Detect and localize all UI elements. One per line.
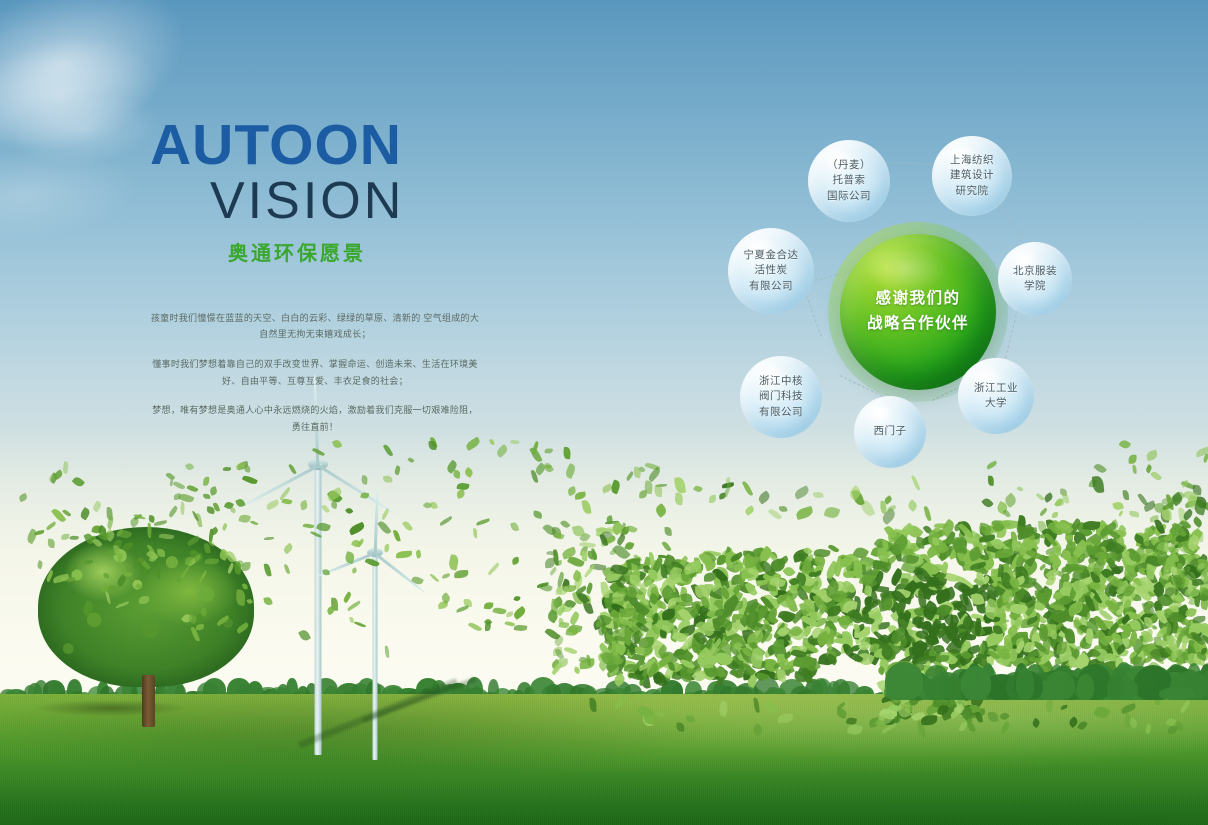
flying-leaf — [193, 563, 199, 570]
flying-leaf — [1129, 455, 1137, 464]
flying-leaf — [511, 556, 519, 565]
partner-bubble-nxjinheda[interactable]: 宁夏金合达活性炭有限公司 — [728, 228, 814, 314]
partner-label-line: （丹麦） — [827, 158, 871, 173]
partner-bubble-zjzhonghe[interactable]: 浙江中核阀门科技有限公司 — [740, 356, 822, 438]
cloud-fringe-leaf — [585, 583, 593, 595]
body-paragraph: 懂事时我们梦想着靠自己的双手改变世界、掌握命运、创造未来、生活在环境美好、自由平… — [150, 356, 480, 389]
cloud-wisp-icon — [0, 140, 143, 250]
flying-leaf — [116, 528, 132, 541]
brand-body-copy: 孩童时我们憧憬在蓝蓝的天空、白白的云彩、绿绿的草原、清新的 空气组成的大自然里无… — [150, 310, 480, 436]
cloud-fringe-leaf — [589, 698, 596, 712]
flying-leaf — [209, 486, 218, 496]
flying-leaf — [411, 575, 424, 586]
shrub-blob — [1107, 675, 1124, 700]
brand-chinese-title: 奥通环保愿景 — [228, 237, 480, 266]
flying-leaf — [84, 560, 93, 564]
flying-leaf — [210, 527, 219, 536]
flying-leaf — [321, 504, 330, 515]
partner-bubble-siemens[interactable]: 西门子 — [854, 396, 926, 468]
flying-leaf — [345, 507, 354, 516]
flying-leaf — [316, 522, 331, 534]
cloud-fringe-leaf — [719, 701, 730, 717]
flying-leaf — [633, 467, 641, 478]
flying-leaf — [414, 549, 421, 558]
cloud-leaf — [877, 548, 888, 562]
flying-leaf — [72, 475, 86, 488]
flying-leaf — [122, 542, 133, 551]
flying-leaf — [70, 535, 79, 540]
flying-leaf — [18, 492, 28, 501]
flying-leaf — [158, 532, 174, 540]
partner-label-line: 研究院 — [950, 184, 994, 199]
cloud-leaf — [744, 581, 758, 597]
flying-leaf — [609, 479, 621, 494]
flying-leaf — [105, 592, 111, 605]
cloud-fringe-leaf — [1061, 704, 1068, 710]
partner-label-line: 学院 — [1013, 279, 1057, 294]
flying-leaf — [25, 527, 39, 544]
flying-leaf — [476, 518, 490, 525]
flying-leaf — [214, 502, 221, 512]
flying-leaf — [238, 513, 251, 523]
flying-leaf — [377, 520, 391, 536]
flying-leaf — [139, 596, 149, 605]
flying-leaf — [236, 589, 246, 605]
cloud-fringe-leaf — [686, 715, 695, 723]
flying-leaf — [249, 520, 258, 527]
center-label-line1: 感谢我们的 — [867, 287, 969, 312]
flying-leaf — [495, 444, 509, 458]
cloud-wisp-icon — [0, 20, 169, 169]
shrub-blob — [1159, 687, 1195, 700]
flying-leaf — [46, 521, 57, 530]
flying-leaf — [155, 564, 161, 579]
flying-leaf — [468, 620, 483, 632]
flying-leaf — [288, 463, 296, 474]
cloud-fringe-leaf — [586, 654, 591, 666]
shrub-blob — [923, 665, 949, 700]
cloud-wisp-icon — [6, 85, 164, 175]
flying-leaf — [303, 523, 315, 529]
partner-label-line: 阀门科技 — [759, 389, 803, 404]
cloud-fringe-leaf — [1178, 699, 1191, 713]
flying-leaf — [349, 617, 354, 623]
flying-leaf — [342, 591, 352, 603]
cloud-fringe-leaf — [581, 551, 588, 561]
partner-bubble-shtextile[interactable]: 上海纺织建筑设计研究院 — [932, 136, 1012, 216]
flying-leaf — [354, 620, 366, 628]
cloud-fringe-leaf — [1192, 516, 1204, 528]
flying-leaf — [489, 439, 495, 446]
flying-leaf — [246, 598, 253, 605]
flying-leaf — [196, 624, 204, 630]
flying-leaf — [625, 471, 635, 481]
flying-leaf — [348, 522, 366, 535]
cloud-fringe-leaf — [754, 697, 760, 713]
flying-leaf — [533, 510, 543, 519]
flying-leaf — [456, 489, 466, 499]
cloud-leaf — [1085, 597, 1092, 606]
flying-leaf — [203, 493, 210, 498]
flying-leaf — [103, 573, 109, 579]
cloud-fringe-leaf — [906, 499, 919, 512]
flying-leaf — [351, 568, 358, 575]
flying-leaf — [380, 508, 390, 521]
flying-leaf — [1145, 449, 1159, 461]
partner-label-line: 大学 — [974, 396, 1018, 411]
flying-leaf — [510, 439, 520, 445]
flying-leaf — [36, 560, 44, 569]
flying-leaf — [574, 491, 586, 500]
cloud-fringe-leaf — [824, 505, 841, 520]
partner-label-line: 浙江工业 — [974, 381, 1018, 396]
cloud-leaf — [932, 538, 939, 546]
flying-leaf — [384, 544, 390, 553]
flying-leaf — [564, 463, 577, 479]
flying-leaf — [61, 534, 70, 540]
partner-label-line: 上海纺织 — [950, 153, 994, 168]
cloud-leaf — [1112, 634, 1121, 643]
flying-leaf — [1151, 471, 1163, 483]
flying-leaf — [184, 557, 192, 565]
flying-leaf — [487, 563, 500, 576]
flying-leaf — [407, 456, 414, 463]
flying-leaf — [146, 523, 151, 538]
flying-leaf — [92, 501, 103, 513]
flying-leaf — [68, 563, 79, 573]
cloud-fringe-leaf — [1044, 699, 1054, 713]
flying-leaf — [264, 537, 274, 540]
flying-leaf — [148, 515, 155, 523]
partner-label-line: 建筑设计 — [950, 168, 994, 183]
cloud-fringe-leaf — [616, 533, 627, 545]
shrub-row — [880, 660, 1208, 700]
poster-canvas: AUTOON VISION 奥通环保愿景 孩童时我们憧憬在蓝蓝的天空、白白的云彩… — [0, 0, 1208, 825]
flying-leaf — [310, 530, 322, 539]
flying-leaf — [173, 480, 186, 491]
flying-leaf — [282, 542, 294, 554]
cloud-fringe-leaf — [1003, 509, 1011, 518]
flying-leaf — [48, 539, 55, 549]
flying-leaf — [364, 556, 380, 568]
flying-leaf — [242, 584, 248, 591]
partner-label-line: 西门子 — [874, 424, 907, 439]
flying-leaf — [1132, 465, 1137, 475]
flying-leaf — [204, 557, 218, 565]
shrub-blob — [961, 666, 992, 700]
flying-leaf — [229, 506, 237, 513]
flying-leaf — [136, 583, 144, 590]
cloud-fringe-leaf — [795, 506, 814, 520]
flying-leaf — [81, 600, 95, 617]
cloud-fringe-leaf — [676, 722, 685, 731]
flying-leaf — [241, 474, 257, 486]
shrub-blob — [885, 662, 923, 700]
center-gloss-highlight — [865, 245, 946, 292]
partner-bubble-bift[interactable]: 北京服装学院 — [998, 242, 1072, 316]
flying-leaf — [463, 467, 474, 478]
cloud-fringe-leaf — [654, 503, 668, 518]
flying-leaf — [166, 472, 176, 481]
cloud-fringe-leaf — [626, 524, 638, 534]
flying-leaf — [215, 615, 230, 627]
body-paragraph: 孩童时我们憧憬在蓝蓝的天空、白白的云彩、绿绿的草原、清新的 空气组成的大自然里无… — [150, 310, 480, 343]
flying-leaf — [1118, 438, 1131, 451]
partner-label-line: 托普索 — [827, 173, 871, 188]
flying-leaf — [430, 572, 440, 582]
flying-leaf — [331, 502, 339, 510]
flying-leaf — [186, 483, 198, 492]
cloud-leaf — [853, 561, 863, 579]
flying-leaf — [180, 502, 186, 515]
cloud-fringe-leaf — [1163, 569, 1171, 579]
flying-leaf — [80, 507, 92, 520]
flying-leaf — [52, 573, 69, 583]
flying-leaf — [512, 606, 527, 620]
flying-leaf — [202, 477, 208, 486]
flying-leaf — [157, 549, 165, 558]
cloud-fringe-leaf — [1112, 500, 1124, 511]
partner-bubble-topsoe[interactable]: （丹麦）托普索国际公司 — [808, 140, 890, 222]
flying-leaf — [323, 569, 330, 576]
cloud-leaf — [883, 563, 891, 572]
flying-leaf — [265, 499, 280, 510]
flying-leaf — [198, 570, 208, 583]
partner-bubble-diagram: 感谢我们的 战略合作伙伴 （丹麦）托普索国际公司 上海纺织建筑设计研究院 北京服… — [700, 110, 1100, 480]
flying-leaf — [693, 484, 703, 493]
flying-leaf — [506, 611, 514, 617]
partner-label-line: 北京服装 — [1013, 264, 1057, 279]
flying-leaf — [439, 516, 453, 526]
flying-leaf — [154, 520, 168, 526]
flying-leaf — [361, 475, 368, 485]
flying-leaf — [455, 605, 469, 613]
flying-leaf — [263, 563, 271, 577]
cloud-fringe-leaf — [709, 495, 717, 504]
partner-bubble-zjut[interactable]: 浙江工业大学 — [958, 358, 1034, 434]
flying-leaf — [34, 530, 45, 535]
flying-leaf — [402, 520, 413, 532]
flying-leaf — [186, 536, 200, 547]
flying-leaf — [394, 465, 401, 475]
flying-leaf — [484, 601, 494, 609]
flying-leaf — [193, 553, 204, 563]
partner-label-line: 有限公司 — [759, 405, 803, 420]
cloud-leaf — [882, 539, 888, 549]
flying-leaf — [453, 570, 467, 578]
cloud-fringe-leaf — [613, 693, 629, 709]
center-label-line2: 战略合作伙伴 — [867, 312, 969, 337]
flying-leaf — [361, 492, 370, 499]
partner-label-line: 浙江中核 — [759, 374, 803, 389]
flying-leaf — [383, 476, 392, 484]
partner-label-line: 国际公司 — [827, 189, 871, 204]
page-title: AUTOON — [150, 118, 480, 173]
cloud-fringe-leaf — [744, 505, 755, 515]
cloud-fringe-leaf — [1129, 511, 1139, 518]
flying-leaf — [346, 600, 361, 611]
flying-leaf — [167, 505, 178, 517]
flying-leaf — [563, 447, 570, 459]
cloud-leaf — [827, 605, 840, 616]
flying-leaf — [284, 564, 290, 575]
flying-leaf — [298, 628, 311, 642]
flying-leaf — [509, 522, 519, 533]
flying-leaf — [282, 498, 292, 505]
flying-leaf — [221, 523, 228, 531]
cloud-fringe-leaf — [611, 641, 617, 655]
cloud-leaf — [777, 669, 787, 682]
flying-leaf — [385, 646, 389, 658]
flying-leaf — [184, 462, 194, 472]
flying-leaf — [442, 573, 450, 578]
flying-leaf — [396, 551, 412, 559]
partner-label-line: 宁夏金合达 — [744, 248, 799, 263]
flying-leaf — [473, 528, 477, 538]
flying-leaf — [235, 498, 245, 509]
flying-leaf — [452, 470, 460, 479]
flying-leaf — [116, 601, 130, 608]
flying-leaf — [492, 607, 506, 616]
brand-subtitle: VISION — [210, 175, 480, 227]
partner-label-line: 有限公司 — [744, 279, 799, 294]
flying-leaf — [513, 595, 520, 602]
cloud-fringe-leaf — [779, 506, 788, 514]
flying-leaf — [263, 596, 273, 605]
cloud-fringe-leaf — [762, 699, 779, 716]
cloud-fringe-leaf — [601, 581, 610, 597]
flying-leaf — [62, 461, 69, 473]
shrub-blob — [1016, 668, 1033, 700]
partner-label-line: 活性炭 — [744, 263, 799, 278]
flying-leaf — [393, 529, 401, 542]
flying-leaf — [344, 550, 356, 564]
shrub-blob — [1077, 674, 1095, 700]
flying-leaf — [485, 621, 491, 630]
flying-leaf — [513, 624, 527, 632]
flying-leaf — [235, 622, 249, 633]
cloud-fringe-leaf — [923, 506, 931, 522]
flying-leaf — [299, 500, 309, 510]
flying-leaf — [222, 467, 230, 472]
flying-leaf — [544, 448, 552, 454]
brand-text-block: AUTOON VISION 奥通环保愿景 孩童时我们憧憬在蓝蓝的天空、白白的云彩… — [150, 118, 480, 449]
body-paragraph: 梦想，唯有梦想是奥通人心中永远燃烧的火焰，激励着我们克服一切艰难险阻，勇往直前！ — [150, 402, 480, 435]
flying-leaf — [447, 554, 459, 571]
